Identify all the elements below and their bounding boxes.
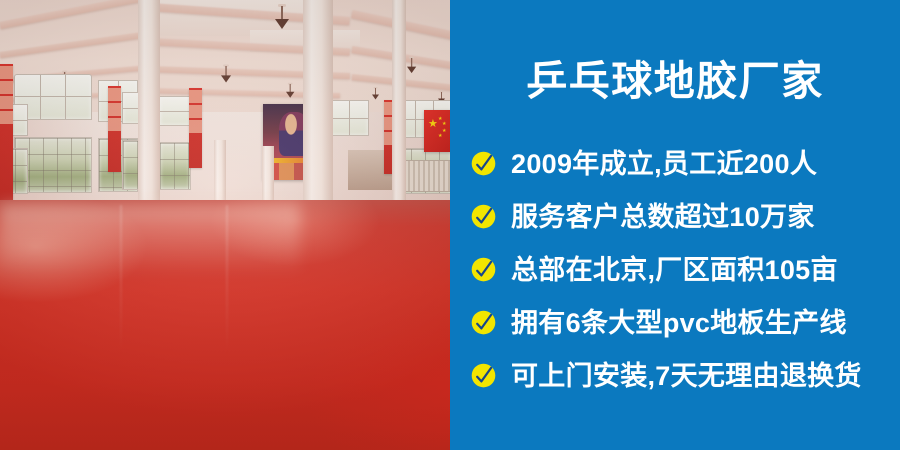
floor-reflection bbox=[0, 204, 300, 274]
check-circle-icon bbox=[470, 203, 497, 230]
check-circle-icon bbox=[470, 362, 497, 389]
list-item: 可上门安装,7天无理由退换货 bbox=[470, 349, 900, 402]
list-item-label: 服务客户总数超过10万家 bbox=[511, 202, 815, 232]
window bbox=[159, 96, 191, 126]
list-item-label: 总部在北京,厂区面积105亩 bbox=[511, 255, 838, 285]
flag-star-large: ★ bbox=[428, 119, 438, 130]
window bbox=[329, 100, 369, 136]
check-circle-icon bbox=[470, 150, 497, 177]
list-item-label: 拥有6条大型pvc地板生产线 bbox=[511, 308, 847, 338]
list-item-label: 2009年成立,员工近200人 bbox=[511, 149, 817, 179]
structural-column bbox=[303, 0, 333, 222]
gymnasium-photo: ★ ★ ★ ★ ★ bbox=[0, 0, 450, 450]
floor-seam bbox=[120, 205, 122, 355]
page-title: 乒乓球地胶厂家 bbox=[450, 58, 900, 104]
feature-list: 2009年成立,员工近200人 服务客户总数超过10万家 bbox=[470, 137, 900, 402]
flag-star-small: ★ bbox=[442, 122, 446, 127]
list-item: 总部在北京,厂区面积105亩 bbox=[470, 243, 900, 296]
wall-banner bbox=[108, 86, 121, 172]
chinese-flag: ★ ★ ★ ★ ★ bbox=[424, 110, 450, 152]
check-circle-icon bbox=[470, 256, 497, 283]
check-circle-icon bbox=[470, 309, 497, 336]
floor-seam bbox=[226, 205, 228, 355]
flag-star-small: ★ bbox=[438, 134, 442, 139]
window bbox=[159, 142, 191, 190]
radiator bbox=[404, 160, 450, 192]
wall-banner bbox=[189, 88, 202, 168]
structural-column bbox=[138, 0, 160, 214]
wall-banner bbox=[0, 64, 13, 200]
flag-star-small: ★ bbox=[442, 129, 446, 134]
promo-banner: ★ ★ ★ ★ ★ 乒乓球地胶厂家 bbox=[0, 0, 900, 450]
list-item-label: 可上门安装,7天无理由退换货 bbox=[511, 361, 862, 391]
info-panel: 乒乓球地胶厂家 2009年成立,员工近200人 bbox=[450, 0, 900, 450]
list-item: 拥有6条大型pvc地板生产线 bbox=[470, 296, 900, 349]
structural-column bbox=[392, 0, 406, 200]
list-item: 服务客户总数超过10万家 bbox=[470, 190, 900, 243]
list-item: 2009年成立,员工近200人 bbox=[470, 137, 900, 190]
